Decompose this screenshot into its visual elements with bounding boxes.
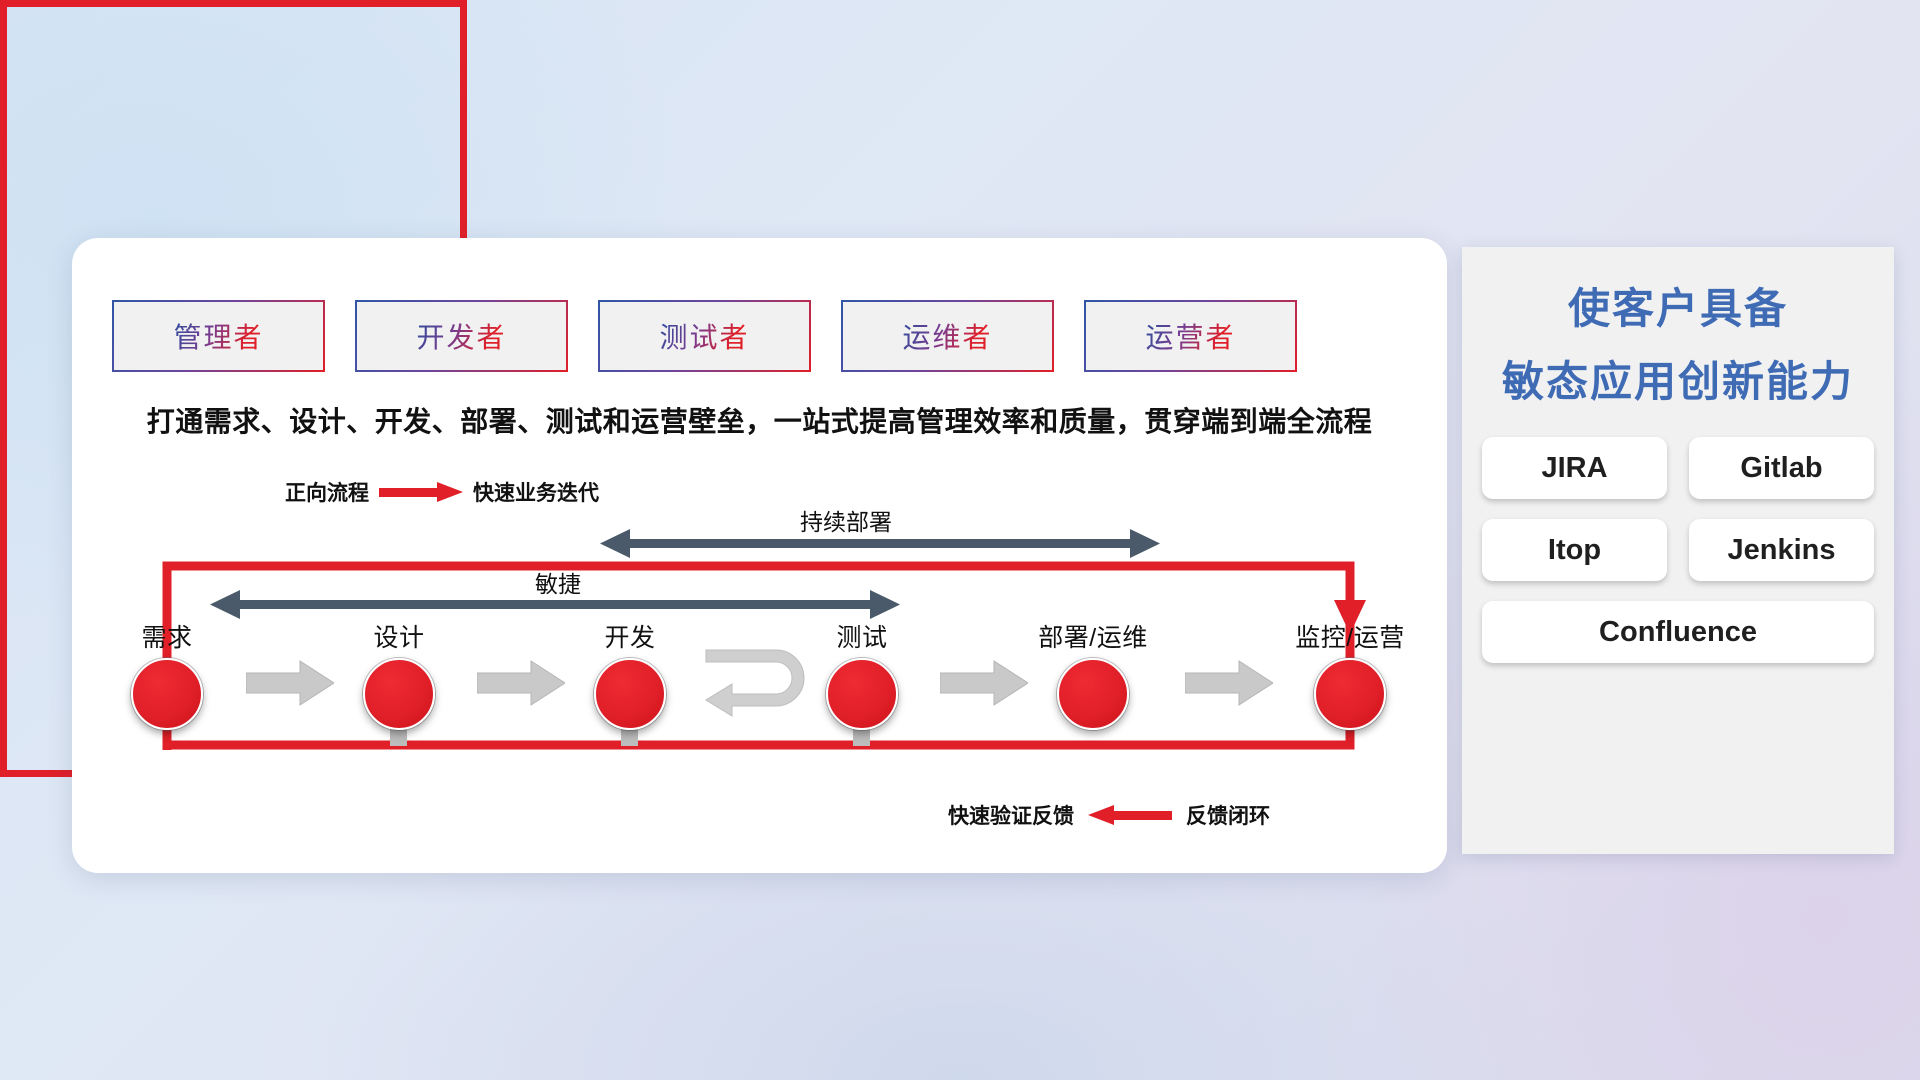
stage-label: 设计 [363,618,435,654]
flow-chevron-icon [477,660,565,706]
tool-button-confluence[interactable]: Confluence [1482,601,1874,663]
stage-monitor-operations[interactable]: 监控/运营 [1270,618,1430,730]
stage-deploy-ops[interactable]: 部署/运维 [1013,618,1173,730]
stage-label: 测试 [826,618,898,654]
flow-chevron-icon [246,660,334,706]
tools-panel-title: 使客户具备 敏态应用创新能力 [1462,247,1894,409]
stage-label: 开发 [594,618,666,654]
stage-design[interactable]: 设计 [363,618,435,730]
stage-dot [363,658,435,730]
flow-chevron-icon [940,660,1028,706]
feedback-from-label: 快速验证反馈 [948,800,1074,830]
stage-testing[interactable]: 测试 [826,618,898,730]
slide-canvas: 管理者 开发者 测试者 运维者 运营者 打通需求、设计、开发、部署、测试和运营壁… [0,0,1920,1080]
tool-button-itop[interactable]: Itop [1482,519,1667,581]
stage-dot [1314,658,1386,730]
feedback-to-label: 反馈闭环 [1186,800,1270,830]
flow-chevron-icon [1185,660,1273,706]
stage-label: 监控/运营 [1270,618,1430,654]
stage-dot [131,658,203,730]
red-left-arrow-icon [1088,804,1172,826]
stage-dot [826,658,898,730]
tools-title-line-2: 敏态应用创新能力 [1462,348,1894,409]
tools-grid: JIRA Gitlab Itop Jenkins Confluence [1482,437,1874,663]
tools-panel: 使客户具备 敏态应用创新能力 JIRA Gitlab Itop Jenkins … [1462,247,1894,854]
iteration-loop-icon [702,648,810,724]
stage-dot [1057,658,1129,730]
stage-label: 部署/运维 [1013,618,1173,654]
tools-title-line-1: 使客户具备 [1462,275,1894,336]
stage-development[interactable]: 开发 [594,618,666,730]
feedback-loop-caption: 快速验证反馈 反馈闭环 [948,800,1270,830]
tool-button-jenkins[interactable]: Jenkins [1689,519,1874,581]
stage-label: 需求 [131,618,203,654]
stage-requirements[interactable]: 需求 [131,618,203,730]
stage-dot [594,658,666,730]
tool-button-jira[interactable]: JIRA [1482,437,1667,499]
tool-button-gitlab[interactable]: Gitlab [1689,437,1874,499]
